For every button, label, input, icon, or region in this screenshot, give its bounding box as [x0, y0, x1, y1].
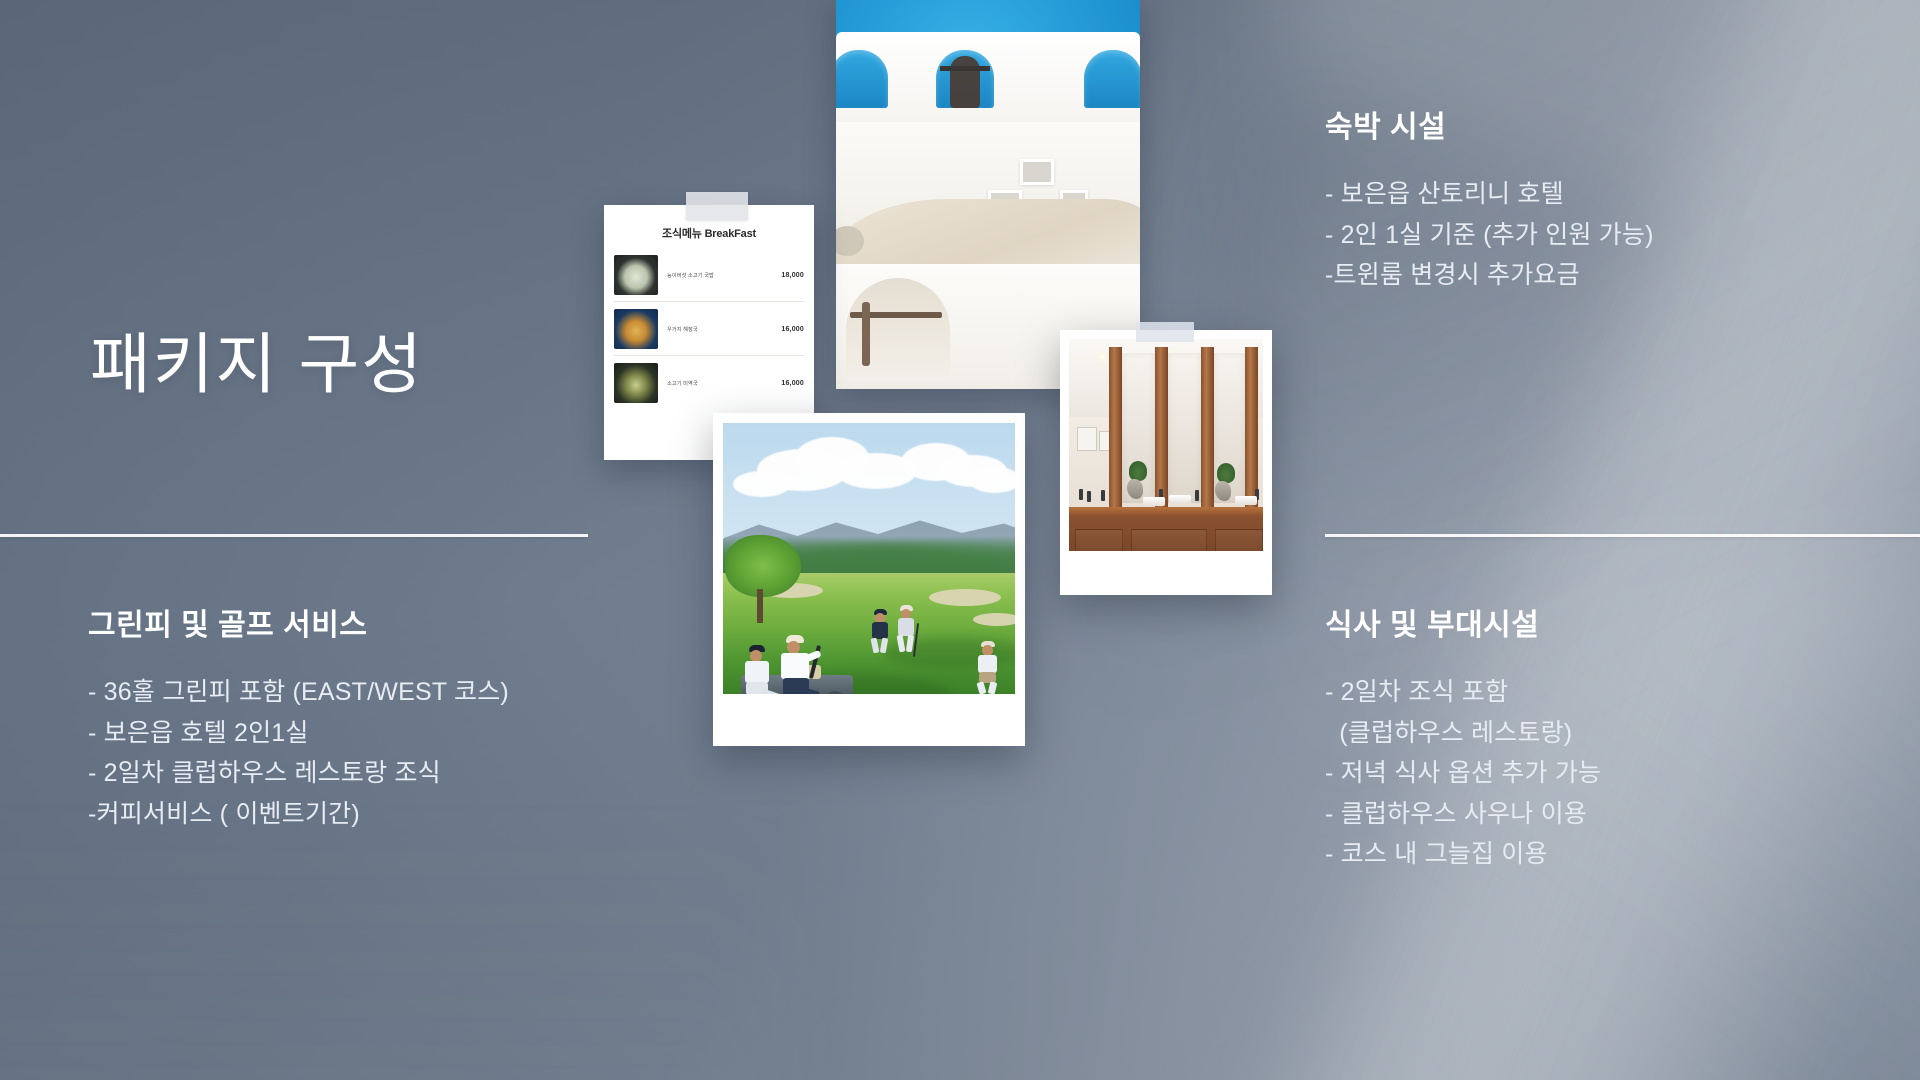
golfer-rider: [745, 645, 775, 694]
golfer-driver: [781, 635, 815, 694]
ceiling-light: [1099, 355, 1106, 359]
golf-course-photo: [713, 413, 1025, 746]
cabinet-door: [1075, 529, 1123, 551]
tree-canopy: [725, 535, 801, 597]
dish-name: 우거지 해장국: [667, 326, 772, 333]
folded-towel: [1235, 496, 1257, 505]
hotel-photo-image: [1069, 339, 1263, 551]
potted-plant: [1217, 463, 1235, 483]
mirror: [1168, 353, 1201, 503]
bell: [950, 56, 980, 108]
wall-art: [1077, 427, 1097, 451]
golfer-leg: [871, 638, 880, 654]
golfer: [895, 605, 917, 653]
list-item: - 보은읍 호텔 2인1실: [88, 713, 509, 754]
decor-stone: [1215, 481, 1231, 501]
golfer-leg: [976, 681, 986, 694]
tree-trunk: [757, 589, 763, 623]
amenity-bottle: [1101, 490, 1105, 501]
golfer-torso: [872, 622, 888, 639]
section-green-fee: 그린피 및 골프 서비스 - 36홀 그린피 포함 (EAST/WEST 코스)…: [88, 608, 509, 834]
wood-column: [1201, 347, 1214, 509]
golfer-torso: [745, 661, 769, 683]
arch-window: [1084, 50, 1140, 108]
dish-thumbnail: [614, 309, 658, 349]
golfer-torso: [978, 655, 997, 673]
decor-stone: [1127, 479, 1143, 499]
folded-towel: [1169, 495, 1191, 504]
menu-content: 조식메뉴 BreakFast 능이버섯 소고기 국밥 18,000 우거지 해장…: [614, 213, 804, 422]
wood-column: [1245, 347, 1258, 509]
section-dining: 식사 및 부대시설 - 2일차 조식 포함 (클럽하우스 레스토랑) - 저녁 …: [1325, 608, 1601, 875]
dish-name: 능이버섯 소고기 국밥: [667, 272, 772, 279]
arch-window: [836, 50, 888, 108]
amenity-bottle: [1195, 490, 1199, 501]
wood-post: [862, 302, 870, 366]
folded-towel: [1143, 497, 1165, 506]
list-item: -커피서비스 ( 이벤트기간): [88, 794, 509, 835]
golfer-leg: [880, 638, 889, 654]
golfer-torso: [898, 618, 914, 636]
cabinet-door: [1215, 529, 1263, 551]
dish-thumbnail: [614, 363, 658, 403]
potted-plant: [1129, 461, 1147, 481]
green-fee-list: - 36홀 그린피 포함 (EAST/WEST 코스) - 보은읍 호텔 2인1…: [88, 672, 509, 834]
hotel-powder-room-photo: [1060, 330, 1272, 595]
golfer-leg: [988, 681, 998, 694]
list-item: - 2일차 클럽하우스 레스토랑 조식: [88, 753, 509, 794]
list-item: - 2일차 조식 포함: [1325, 672, 1601, 713]
menu-row: 우거지 해장국 16,000: [614, 309, 804, 356]
menu-row: 소고기 미역국 16,000: [614, 363, 804, 409]
vanity-counter: [1069, 507, 1263, 551]
dish-price: 16,000: [781, 326, 804, 333]
sand-bunker: [973, 613, 1015, 626]
menu-row: 능이버섯 소고기 국밥 18,000: [614, 255, 804, 302]
list-item: -트윈룸 변경시 추가요금: [1325, 255, 1654, 296]
section-heading-dining: 식사 및 부대시설: [1325, 608, 1601, 644]
menu-title: 조식메뉴 BreakFast: [614, 225, 804, 241]
list-item: - 클럽하우스 사우나 이용: [1325, 794, 1601, 835]
accommodation-list: - 보은읍 산토리니 호텔 - 2인 1실 기준 (추가 인원 가능) -트윈룸…: [1325, 174, 1654, 296]
window: [1020, 159, 1054, 185]
section-heading-green-fee: 그린피 및 골프 서비스: [88, 608, 509, 644]
page-title: 패키지 구성: [90, 328, 424, 401]
wood-column: [1155, 347, 1168, 509]
list-item: - 36홀 그린피 포함 (EAST/WEST 코스): [88, 672, 509, 713]
divider-line-left: [0, 534, 588, 537]
list-item: - 저녁 식사 옵션 추가 가능: [1325, 753, 1601, 794]
list-item: - 보은읍 산토리니 호텔: [1325, 174, 1654, 215]
cloud: [969, 467, 1015, 493]
dish-price: 16,000: [781, 380, 804, 387]
golf-photo-image: [723, 423, 1015, 694]
dining-list: - 2일차 조식 포함 (클럽하우스 레스토랑) - 저녁 식사 옵션 추가 가…: [1325, 672, 1601, 875]
cloud: [733, 471, 791, 497]
amenity-bottle: [1087, 491, 1091, 502]
golfer-leg: [897, 635, 906, 653]
list-item: - 코스 내 그늘집 이용: [1325, 834, 1601, 875]
dish-name: 소고기 미역국: [667, 380, 772, 387]
dish-thumbnail: [614, 255, 658, 295]
section-heading-accommodation: 숙박 시설: [1325, 110, 1654, 146]
tape-strip: [686, 192, 748, 220]
list-item: - 2인 1실 기준 (추가 인원 가능): [1325, 215, 1654, 256]
tape-strip: [1136, 322, 1194, 342]
list-item: (클럽하우스 레스토랑): [1325, 713, 1601, 754]
sand-bunker: [929, 589, 1001, 606]
golfer: [975, 641, 1001, 693]
wood-column: [1109, 347, 1122, 509]
cabinet-door: [1131, 529, 1207, 551]
section-accommodation: 숙박 시설 - 보은읍 산토리니 호텔 - 2인 1실 기준 (추가 인원 가능…: [1325, 110, 1654, 296]
amenity-bottle: [1079, 489, 1083, 500]
dish-price: 18,000: [781, 272, 804, 279]
divider-line-right: [1325, 534, 1920, 537]
golfer: [869, 609, 891, 653]
